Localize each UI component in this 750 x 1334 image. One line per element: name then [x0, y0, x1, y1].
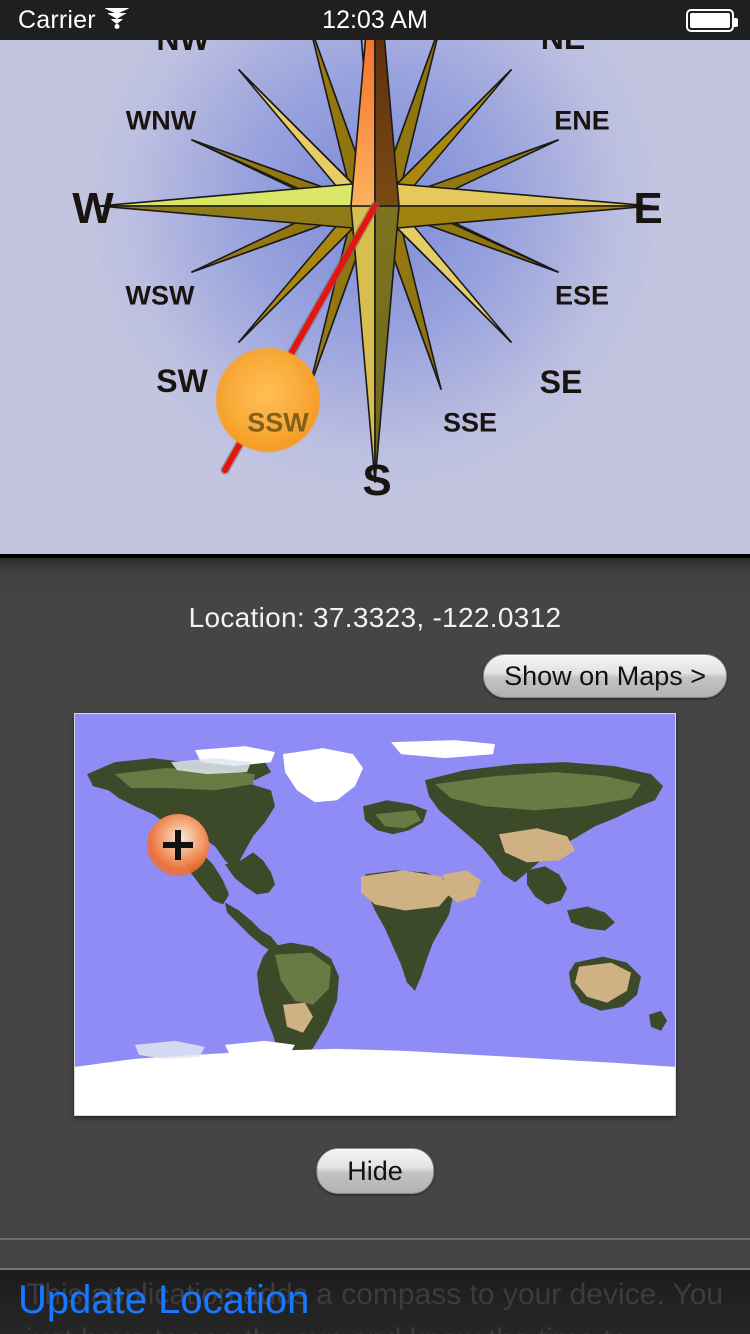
compass-label-w: W	[72, 187, 114, 231]
world-map-image	[75, 714, 675, 1115]
compass-label-wnw: WNW	[126, 108, 196, 135]
world-map[interactable]	[74, 713, 676, 1116]
sun-direction-label: SSW	[247, 408, 309, 439]
status-bar-right	[686, 0, 734, 40]
map-location-marker	[147, 814, 209, 876]
compass-label-sw: SW	[156, 365, 208, 397]
status-bar: Carrier 12:03 AM	[0, 0, 750, 40]
battery-full-icon	[686, 9, 734, 32]
compass-label-wsw: WSW	[126, 283, 195, 310]
compass-label-e: E	[633, 187, 662, 231]
hide-map-button[interactable]: Hide	[316, 1148, 434, 1194]
compass-label-ese: ESE	[555, 283, 609, 310]
location-panel: Location: 37.3323, -122.0312 Show on Map…	[0, 558, 750, 1240]
compass-stage: SSW N NNE NE ENE E ESE SE SSE S SW WSW W…	[0, 0, 750, 558]
info-panel: This application adds a compass to your …	[0, 1270, 750, 1334]
panel-gap	[0, 1240, 750, 1268]
status-bar-clock: 12:03 AM	[0, 0, 750, 40]
compass-label-sse: SSE	[443, 410, 497, 437]
compass-panel[interactable]: SSW N NNE NE ENE E ESE SE SSE S SW WSW W…	[0, 0, 750, 558]
compass-label-ene: ENE	[554, 108, 610, 135]
update-location-link[interactable]: Update Location	[18, 1276, 309, 1324]
compass-label-se: SE	[540, 366, 583, 398]
compass-label-s: S	[362, 459, 391, 503]
divider-top	[0, 1238, 750, 1240]
show-on-maps-button[interactable]: Show on Maps >	[483, 654, 727, 698]
location-readout: Location: 37.3323, -122.0312	[0, 602, 750, 634]
app-screen: SSW N NNE NE ENE E ESE SE SSE S SW WSW W…	[0, 0, 750, 1334]
